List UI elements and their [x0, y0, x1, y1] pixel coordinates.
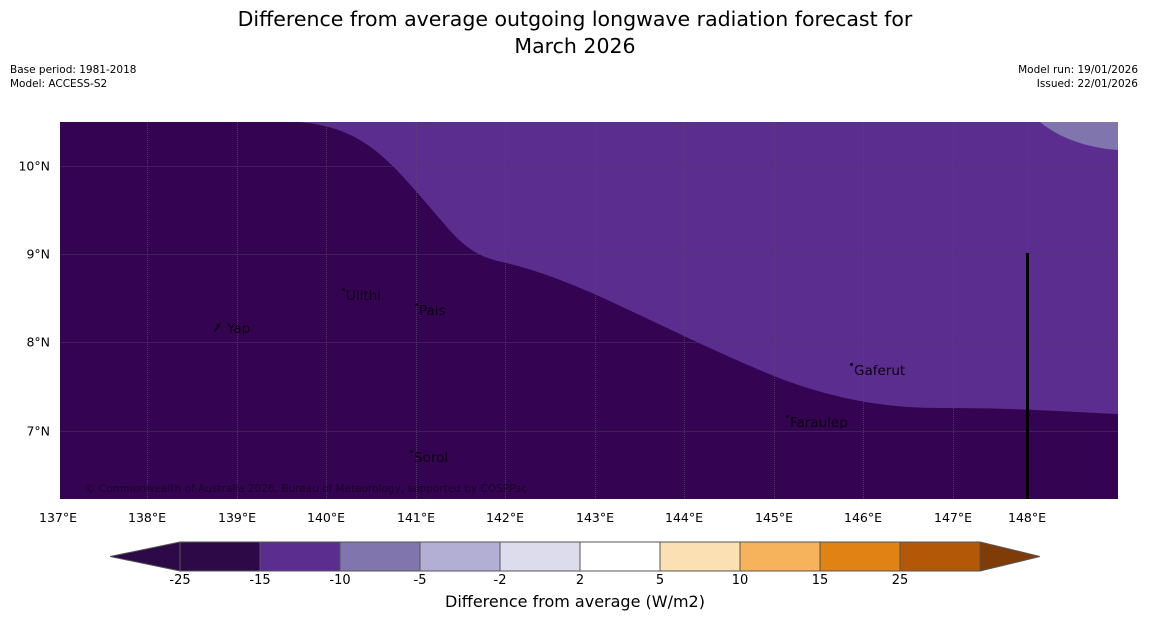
xtick-label: 140°E [307, 510, 345, 525]
colorbar-cell [340, 542, 420, 571]
place-marker-dot [415, 303, 418, 306]
gridline-lon-144 [684, 122, 685, 499]
colorbar-cell [900, 542, 980, 571]
place-name: Faraulep [790, 415, 848, 431]
gridline-lon-147 [953, 122, 954, 499]
colorbar-cell [820, 542, 900, 571]
colorbar-tick-label: -25 [169, 573, 190, 588]
ytick-label: 9°N [26, 247, 50, 262]
colorbar-cell [580, 542, 660, 571]
xtick-label: 142°E [486, 510, 524, 525]
colorbar-tick-label: -5 [414, 573, 427, 588]
map-plot-area: Yap Ulithi Pais Sorol Gaferut Faraulep W… [60, 122, 1118, 499]
copyright-text: © Commonwealth of Australia 2026, Bureau… [85, 483, 527, 495]
anomaly-band-minus15-minus10 [60, 122, 1118, 499]
ytick-label: 10°N [18, 159, 50, 174]
ytick-label: 8°N [26, 335, 50, 350]
colorbar-tick-label: 15 [812, 573, 829, 588]
colorbar-extend-min [110, 542, 180, 571]
place-label: Sorol [410, 450, 448, 466]
xtick-label: 137°E [39, 510, 77, 525]
colorbar-cell [660, 542, 740, 571]
colorbar-cell [180, 542, 260, 571]
colorbar-tick-label: -15 [249, 573, 270, 588]
place-name: Gaferut [854, 363, 905, 379]
xtick-label: 143°E [576, 510, 614, 525]
place-marker-dot [342, 288, 345, 291]
place-name: Sorol [414, 450, 448, 466]
place-name: Pais [419, 303, 446, 319]
colorbar-tick-label: 10 [732, 573, 749, 588]
colorbar-extend-max [980, 542, 1040, 571]
xtick-label: 148°E [1008, 510, 1046, 525]
colorbar-cell [740, 542, 820, 571]
page-title: Difference from average outgoing longwav… [0, 6, 1150, 60]
xtick-label: 146°E [844, 510, 882, 525]
xtick-label: 144°E [665, 510, 703, 525]
gridline-lon-140 [326, 122, 327, 499]
place-label: Pais [415, 303, 446, 319]
gridline-lat-7 [60, 431, 1118, 432]
gridline-lon-142 [505, 122, 506, 499]
xtick-label: 138°E [128, 510, 166, 525]
gridline-lat-10 [60, 166, 1118, 167]
issued-text: Issued: 22/01/2026 [1018, 78, 1138, 92]
gridline-lat-9 [60, 254, 1118, 255]
gridline-lon-143 [595, 122, 596, 499]
colorbar-cell [500, 542, 580, 571]
place-label: Gaferut [850, 363, 905, 379]
model-run-text: Model run: 19/01/2026 [1018, 64, 1138, 78]
place-name: Ulithi [346, 288, 381, 304]
base-period-text: Base period: 1981-2018 [10, 64, 136, 78]
place-label: Yap [227, 321, 250, 337]
place-name: Yap [227, 321, 250, 337]
yap-island-icon [210, 320, 224, 336]
metadata-right: Model run: 19/01/2026 Issued: 22/01/2026 [1018, 64, 1138, 91]
gridline-lon-146 [863, 122, 864, 499]
gridline-lon-139 [237, 122, 238, 499]
place-label: Faraulep [786, 415, 848, 431]
metadata-left: Base period: 1981-2018 Model: ACCESS-S2 [10, 64, 136, 91]
xtick-label: 147°E [934, 510, 972, 525]
gridline-lat-8 [60, 342, 1118, 343]
colorbar [110, 541, 1040, 572]
model-text: Model: ACCESS-S2 [10, 78, 136, 92]
place-marker-dot [850, 363, 853, 366]
colorbar-tick-label: 25 [892, 573, 909, 588]
colorbar-cell [420, 542, 500, 571]
colorbar-cell [260, 542, 340, 571]
xtick-label: 141°E [397, 510, 435, 525]
colorbar-tick-label: -2 [494, 573, 507, 588]
colorbar-axis-label: Difference from average (W/m2) [0, 592, 1150, 611]
gridline-lon-138 [147, 122, 148, 499]
gridline-lon-145 [774, 122, 775, 499]
place-marker-dot [786, 415, 789, 418]
colorbar-tick-label: 5 [656, 573, 664, 588]
xtick-label: 145°E [755, 510, 793, 525]
colorbar-tick-label: 2 [576, 573, 584, 588]
colorbar-tick-label: -10 [329, 573, 350, 588]
boundary-line [1026, 253, 1029, 499]
place-marker-dot [410, 450, 413, 453]
place-label: Ulithi [342, 288, 381, 304]
ytick-label: 7°N [26, 424, 50, 439]
xtick-label: 139°E [218, 510, 256, 525]
